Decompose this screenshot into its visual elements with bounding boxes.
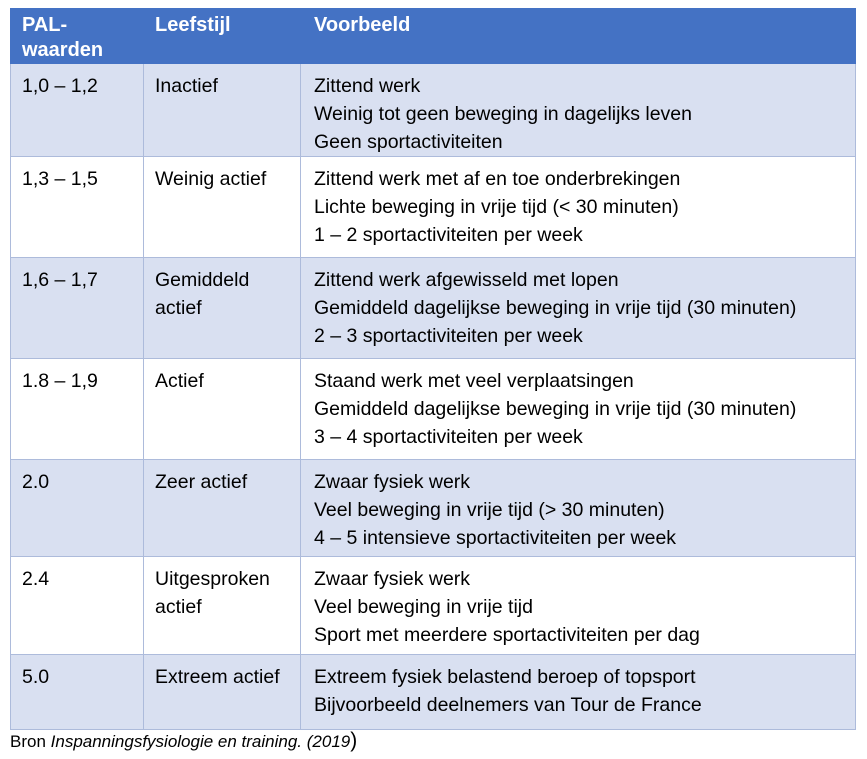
cell-example: Zwaar fysiek werk Veel beweging in vrije… [301,557,856,655]
column-header-pal-waarden: PAL- waarden [11,9,144,64]
cell-lifestyle: Actief [144,359,301,460]
cell-lifestyle: Gemiddeld actief [144,258,301,359]
example-line: Geen sportactiviteiten [314,128,855,156]
example-line: 1 – 2 sportactiviteiten per week [314,221,855,249]
column-header-voorbeeld: Voorbeeld [301,9,856,64]
cell-pal-value: 1.8 – 1,9 [11,359,144,460]
cell-pal-value: 1,0 – 1,2 [11,64,144,157]
example-line: 4 – 5 intensieve sportactiviteiten per w… [314,524,855,552]
cell-pal-value: 1,6 – 1,7 [11,258,144,359]
table-row: 2.4 Uitgesproken actief Zwaar fysiek wer… [11,557,856,655]
cell-example: Extreem fysiek belastend beroep of topsp… [301,655,856,730]
cell-example: Zittend werk met af en toe onderbrekinge… [301,157,856,258]
column-header-leefstijl-label: Leefstijl [155,13,300,38]
example-line: 3 – 4 sportactiviteiten per week [314,423,855,451]
cell-pal-value: 2.0 [11,460,144,557]
caption-prefix: Bron [10,732,51,751]
table-row: 1.8 – 1,9 Actief Staand werk met veel ve… [11,359,856,460]
cell-pal-value: 1,3 – 1,5 [11,157,144,258]
caption-close-paren: ) [350,729,357,752]
cell-pal-value: 2.4 [11,557,144,655]
example-line: Bijvoorbeeld deelnemers van Tour de Fran… [314,691,855,719]
example-line: Zittend werk [314,72,855,100]
column-header-pal-waarden-label: PAL- waarden [22,13,143,63]
example-line: Gemiddeld dagelijkse beweging in vrije t… [314,294,855,322]
example-line: Extreem fysiek belastend beroep of topsp… [314,663,855,691]
example-line: Zittend werk afgewisseld met lopen [314,266,855,294]
cell-lifestyle: Uitgesproken actief [144,557,301,655]
source-caption: Bron Inspanningsfysiologie en training. … [10,730,357,753]
caption-year: (2019 [302,732,350,751]
cell-example: Zittend werk Weinig tot geen beweging in… [301,64,856,157]
example-line: Sport met meerdere sportactiviteiten per… [314,621,855,649]
example-line: Weinig tot geen beweging in dagelijks le… [314,100,855,128]
example-line: 2 – 3 sportactiviteiten per week [314,322,855,350]
example-line: Zwaar fysiek werk [314,565,855,593]
table-row: 5.0 Extreem actief Extreem fysiek belast… [11,655,856,730]
page-root: PAL- waarden Leefstijl Voorbeeld 1,0 – 1… [0,0,867,759]
table-header-row: PAL- waarden Leefstijl Voorbeeld [11,9,856,64]
example-line: Lichte beweging in vrije tijd (< 30 minu… [314,193,855,221]
table-body: 1,0 – 1,2 Inactief Zittend werk Weinig t… [11,64,856,730]
column-header-voorbeeld-label: Voorbeeld [314,13,855,38]
cell-example: Zwaar fysiek werk Veel beweging in vrije… [301,460,856,557]
cell-lifestyle: Weinig actief [144,157,301,258]
pal-values-table: PAL- waarden Leefstijl Voorbeeld 1,0 – 1… [10,8,856,730]
table-row: 2.0 Zeer actief Zwaar fysiek werk Veel b… [11,460,856,557]
table-row: 1,0 – 1,2 Inactief Zittend werk Weinig t… [11,64,856,157]
table-row: 1,3 – 1,5 Weinig actief Zittend werk met… [11,157,856,258]
example-line: Zwaar fysiek werk [314,468,855,496]
table-row: 1,6 – 1,7 Gemiddeld actief Zittend werk … [11,258,856,359]
cell-example: Staand werk met veel verplaatsingen Gemi… [301,359,856,460]
example-line: Gemiddeld dagelijkse beweging in vrije t… [314,395,855,423]
cell-example: Zittend werk afgewisseld met lopen Gemid… [301,258,856,359]
example-line: Veel beweging in vrije tijd (> 30 minute… [314,496,855,524]
cell-lifestyle: Extreem actief [144,655,301,730]
cell-pal-value: 5.0 [11,655,144,730]
cell-lifestyle: Zeer actief [144,460,301,557]
table-header: PAL- waarden Leefstijl Voorbeeld [11,9,856,64]
caption-source-title: Inspanningsfysiologie en training. [51,732,302,751]
example-line: Staand werk met veel verplaatsingen [314,367,855,395]
example-line: Veel beweging in vrije tijd [314,593,855,621]
column-header-leefstijl: Leefstijl [144,9,301,64]
cell-lifestyle: Inactief [144,64,301,157]
example-line: Zittend werk met af en toe onderbrekinge… [314,165,855,193]
